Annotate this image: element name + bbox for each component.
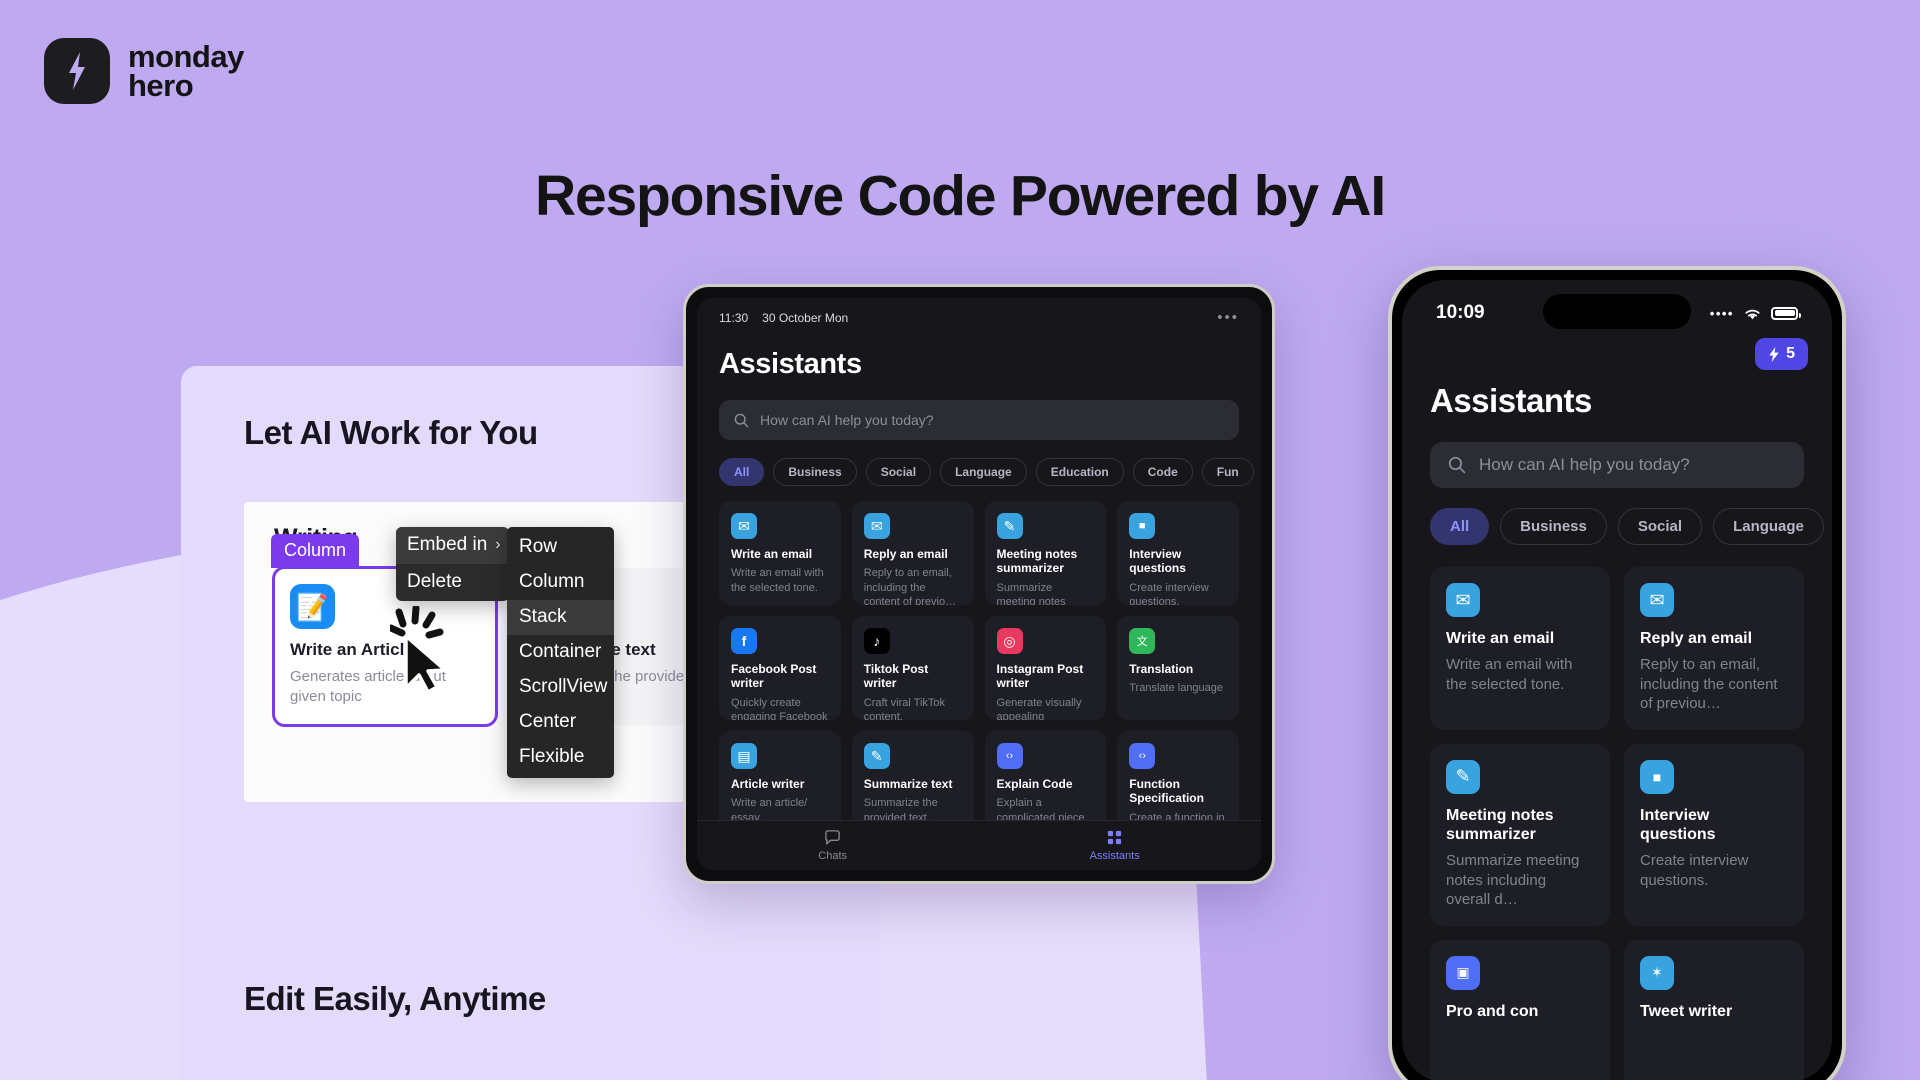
- code-icon: ‹›: [997, 743, 1023, 769]
- phone-card-desc: Reply to an email, including the content…: [1640, 655, 1788, 714]
- submenu-item-label: Stack: [519, 606, 567, 628]
- tablet-nav-label: Chats: [818, 850, 847, 862]
- tablet-chip-social[interactable]: Social: [866, 458, 931, 486]
- tablet-assistant-card[interactable]: ✉ Write an email Write an email with the…: [719, 501, 841, 605]
- phone-screen: 10:09 •••• 5 Assistants: [1402, 280, 1832, 1080]
- page-root: monday hero Responsive Code Powered by A…: [0, 0, 1920, 1080]
- context-menu[interactable]: Embed in › Delete: [396, 527, 509, 601]
- tablet-assistant-card[interactable]: f Facebook Post writer Quickly create en…: [719, 616, 841, 720]
- phone-card-name: Meeting notes summarizer: [1446, 806, 1594, 844]
- tablet-nav-assistants[interactable]: Assistants: [1090, 829, 1140, 862]
- tablet-card-desc: Craft viral TikTok content.: [864, 696, 962, 720]
- phone-chip-social[interactable]: Social: [1618, 508, 1702, 545]
- phone-filter-chips: All Business Social Language Ed: [1402, 488, 1832, 545]
- brand-name-line1: monday: [128, 42, 244, 71]
- briefcase-glyph: ■: [1139, 520, 1146, 532]
- instagram-glyph: ◎: [1003, 633, 1015, 650]
- submenu-item-flexible[interactable]: Flexible: [507, 740, 614, 775]
- phone-assistant-card[interactable]: ✉ Reply an email Reply to an email, incl…: [1624, 567, 1804, 730]
- pencil-glyph: ✎: [1004, 518, 1016, 535]
- submenu-item-label: Column: [519, 571, 584, 593]
- tablet-search-input[interactable]: How can AI help you today?: [719, 400, 1239, 440]
- chat-icon: ▣: [1446, 956, 1480, 990]
- tablet-assistant-card[interactable]: ✉ Reply an email Reply to an email, incl…: [852, 501, 974, 605]
- signal-dots-icon: ••••: [1710, 306, 1734, 321]
- memo-pencil-icon: 📝: [290, 584, 335, 629]
- tablet-card-desc: Create interview questions.: [1129, 581, 1227, 605]
- facebook-glyph: f: [742, 633, 747, 649]
- tiktok-glyph: ♪: [873, 633, 880, 649]
- lightning-bolt-icon: [1768, 347, 1780, 362]
- credit-badge[interactable]: 5: [1755, 338, 1808, 370]
- search-icon: [734, 413, 749, 428]
- tablet-chip-code[interactable]: Code: [1133, 458, 1193, 486]
- tablet-nav-chats[interactable]: Chats: [818, 829, 847, 862]
- tablet-assistant-card[interactable]: ♪ Tiktok Post writer Craft viral TikTok …: [852, 616, 974, 720]
- envelope-icon: ✉: [1446, 583, 1480, 617]
- pencil-icon: ✎: [864, 743, 890, 769]
- pencil-icon: ✎: [997, 513, 1023, 539]
- facebook-icon: f: [731, 628, 757, 654]
- envelope-icon: ✉: [864, 513, 890, 539]
- envelope-glyph: ✉: [871, 518, 883, 535]
- submenu-item-label: Flexible: [519, 746, 584, 768]
- tablet-page-title: Assistants: [697, 326, 1261, 381]
- submenu-item-column[interactable]: Column: [507, 565, 614, 600]
- battery-icon: [1771, 307, 1798, 320]
- tablet-filter-chips: All Business Social Language Education C…: [697, 440, 1261, 486]
- phone-assistant-card[interactable]: ✶ Tweet writer: [1624, 940, 1804, 1080]
- panel-title-top: Let AI Work for You: [244, 414, 538, 452]
- envelope-icon: ✉: [1640, 583, 1674, 617]
- grid-icon: [1106, 829, 1123, 846]
- submenu-item-container[interactable]: Container: [507, 635, 614, 670]
- tablet-assistant-card[interactable]: 文 Translation Translate language: [1117, 616, 1239, 720]
- mouse-cursor-icon: [390, 606, 460, 696]
- tablet-card-desc: Summarize meeting notes including overal…: [997, 581, 1095, 605]
- tablet-screen: 11:30 30 October Mon ••• Assistants How …: [697, 298, 1261, 870]
- twitter-icon: ✶: [1640, 956, 1674, 990]
- phone-assistant-card[interactable]: ✎ Meeting notes summarizer Summarize mee…: [1430, 744, 1610, 926]
- phone-assistant-grid: ✉ Write an email Write an email with the…: [1402, 545, 1832, 1080]
- tablet-status-time: 11:30: [719, 311, 748, 325]
- phone-assistant-card[interactable]: ■ Interview questions Create interview q…: [1624, 744, 1804, 926]
- wifi-icon: [1742, 306, 1763, 321]
- chevron-right-icon: ›: [495, 536, 500, 554]
- code-icon: ‹›: [1129, 743, 1155, 769]
- phone-status-time: 10:09: [1436, 302, 1485, 324]
- phone-device: 10:09 •••• 5 Assistants: [1388, 266, 1846, 1080]
- tablet-card-name: Translation: [1129, 662, 1227, 676]
- phone-notch: [1543, 294, 1691, 329]
- tablet-card-name: Interview questions: [1129, 547, 1227, 576]
- submenu-item-label: Container: [519, 641, 601, 663]
- chat-glyph: ▣: [1456, 964, 1469, 981]
- phone-chip-business[interactable]: Business: [1500, 508, 1607, 545]
- tablet-assistant-card[interactable]: ✎ Meeting notes summarizer Summarize mee…: [985, 501, 1107, 605]
- tablet-bottom-nav: Chats Assistants: [697, 820, 1261, 870]
- context-menu-item-label: Embed in: [407, 534, 487, 556]
- phone-assistant-card[interactable]: ▣ Pro and con: [1430, 940, 1610, 1080]
- briefcase-glyph: ■: [1653, 769, 1661, 785]
- tablet-card-name: Explain Code: [997, 777, 1095, 791]
- search-icon: [1448, 456, 1466, 474]
- tablet-card-name: Meeting notes summarizer: [997, 547, 1095, 576]
- page-headline: Responsive Code Powered by AI: [0, 163, 1920, 229]
- phone-card-name: Interview questions: [1640, 806, 1788, 844]
- tablet-assistant-grid: ✉ Write an email Write an email with the…: [697, 486, 1261, 835]
- tablet-nav-label: Assistants: [1090, 850, 1140, 862]
- tablet-assistant-card[interactable]: ■ Interview questions Create interview q…: [1117, 501, 1239, 605]
- memo-pencil-glyph: 📝: [296, 594, 328, 620]
- phone-card-desc: Write an email with the selected tone.: [1446, 655, 1594, 694]
- phone-card-desc: Create interview questions.: [1640, 851, 1788, 890]
- tablet-more-dots-icon[interactable]: •••: [1217, 309, 1239, 326]
- envelope-glyph: ✉: [738, 518, 750, 535]
- code-glyph: ‹›: [1006, 750, 1013, 762]
- phone-search-placeholder: How can AI help you today?: [1479, 455, 1690, 475]
- tablet-card-desc: Reply to an email, including the content…: [864, 566, 962, 605]
- submenu-item-stack[interactable]: Stack: [507, 600, 614, 635]
- phone-chip-language[interactable]: Language: [1713, 508, 1824, 545]
- tablet-card-name: Instagram Post writer: [997, 662, 1095, 691]
- submenu-item-label: Center: [519, 711, 576, 733]
- phone-search-input[interactable]: How can AI help you today?: [1430, 442, 1804, 488]
- article-icon: ▤: [731, 743, 757, 769]
- envelope-glyph: ✉: [1649, 590, 1664, 611]
- phone-card-name: Write an email: [1446, 629, 1594, 648]
- panel-title-bottom: Edit Easily, Anytime: [244, 980, 546, 1018]
- phone-assistant-card[interactable]: ✉ Write an email Write an email with the…: [1430, 567, 1610, 730]
- tablet-card-desc: Generate visually appealing Instagram po…: [997, 696, 1095, 720]
- tablet-card-desc: Write an email with the selected tone.: [731, 566, 829, 595]
- tablet-status-date: 30 October Mon: [762, 311, 848, 325]
- context-menu-item-embed-in[interactable]: Embed in ›: [396, 527, 509, 564]
- submenu-item-center[interactable]: Center: [507, 705, 614, 740]
- tablet-card-desc: Quickly create engaging Facebook posts.: [731, 696, 829, 720]
- brand-logo[interactable]: monday hero: [44, 38, 244, 104]
- translate-glyph: 文: [1137, 633, 1148, 649]
- article-glyph: ▤: [737, 748, 750, 765]
- code-glyph: ‹›: [1139, 750, 1146, 762]
- phone-status-indicators: ••••: [1710, 306, 1798, 321]
- envelope-glyph: ✉: [1455, 590, 1470, 611]
- translate-icon: 文: [1129, 628, 1155, 654]
- submenu-item-scrollview[interactable]: ScrollView: [507, 670, 614, 705]
- context-submenu[interactable]: Row Column Stack Container ScrollView Ce…: [507, 527, 614, 778]
- lightning-bolt-glyph: [66, 52, 88, 90]
- tiktok-icon: ♪: [864, 628, 890, 654]
- tablet-card-name: Tiktok Post writer: [864, 662, 962, 691]
- chat-bubble-icon: [824, 829, 841, 846]
- brand-name: monday hero: [128, 42, 244, 101]
- tablet-chip-business[interactable]: Business: [773, 458, 856, 486]
- envelope-icon: ✉: [731, 513, 757, 539]
- tablet-assistant-card[interactable]: ◎ Instagram Post writer Generate visuall…: [985, 616, 1107, 720]
- pencil-icon: ✎: [1446, 760, 1480, 794]
- submenu-item-label: ScrollView: [519, 676, 607, 698]
- tablet-card-name: Summarize text: [864, 777, 962, 791]
- tablet-card-name: Reply an email: [864, 547, 962, 561]
- phone-card-name: Pro and con: [1446, 1002, 1594, 1021]
- pencil-glyph: ✎: [1455, 766, 1470, 787]
- context-menu-item-delete[interactable]: Delete: [396, 564, 509, 601]
- submenu-item-row[interactable]: Row: [507, 530, 614, 565]
- selection-badge: Column: [271, 534, 359, 568]
- pencil-glyph: ✎: [871, 748, 883, 765]
- brand-name-line2: hero: [128, 71, 244, 100]
- tablet-chip-education[interactable]: Education: [1036, 458, 1124, 486]
- briefcase-icon: ■: [1640, 760, 1674, 794]
- tablet-card-name: Write an email: [731, 547, 829, 561]
- phone-chip-all[interactable]: All: [1430, 508, 1489, 545]
- submenu-item-label: Row: [519, 536, 557, 558]
- credit-badge-count: 5: [1786, 345, 1795, 363]
- phone-card-name: Tweet writer: [1640, 1002, 1788, 1021]
- tablet-device: 11:30 30 October Mon ••• Assistants How …: [683, 284, 1275, 884]
- phone-card-name: Reply an email: [1640, 629, 1788, 648]
- briefcase-icon: ■: [1129, 513, 1155, 539]
- tablet-chip-language[interactable]: Language: [940, 458, 1027, 486]
- phone-card-desc: Summarize meeting notes including overal…: [1446, 851, 1594, 910]
- twitter-glyph: ✶: [1651, 964, 1663, 981]
- context-menu-item-label: Delete: [407, 571, 462, 593]
- tablet-card-name: Function Specification: [1129, 777, 1227, 806]
- tablet-chip-all[interactable]: All: [719, 458, 764, 486]
- tablet-card-name: Facebook Post writer: [731, 662, 829, 691]
- tablet-chip-fun[interactable]: Fun: [1202, 458, 1254, 486]
- instagram-icon: ◎: [997, 628, 1023, 654]
- tablet-card-desc: Translate language: [1129, 681, 1227, 695]
- tablet-card-name: Article writer: [731, 777, 829, 791]
- tablet-status-bar: 11:30 30 October Mon •••: [697, 298, 1261, 326]
- tablet-search-placeholder: How can AI help you today?: [760, 412, 934, 428]
- lightning-bolt-icon: [44, 38, 110, 104]
